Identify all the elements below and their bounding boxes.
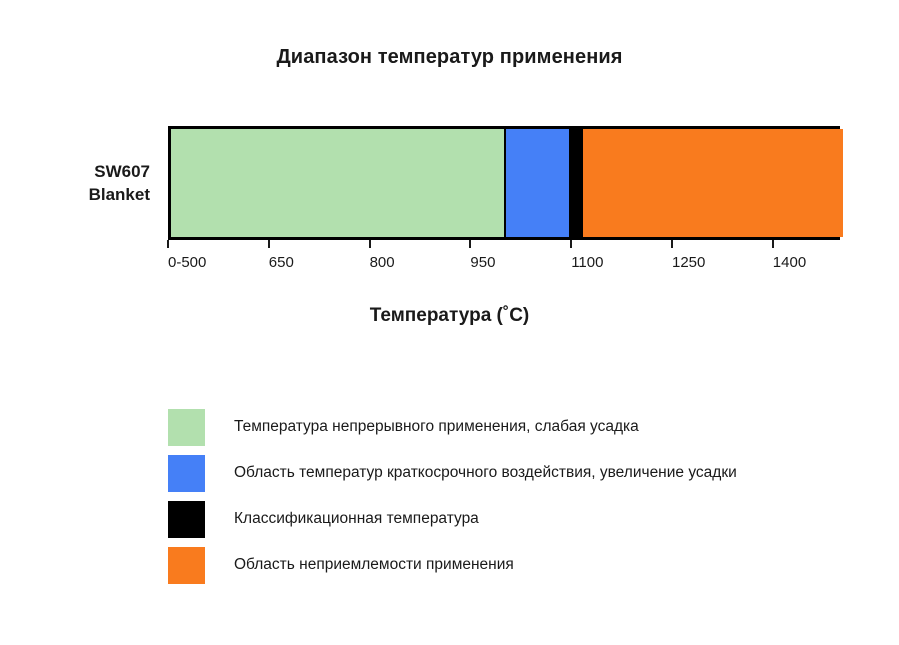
color-swatch-green: [168, 409, 205, 446]
legend-label: Область неприемлемости применения: [234, 556, 514, 574]
tick-label: 1100: [571, 254, 603, 271]
tick-label: 0-500: [168, 254, 206, 271]
bar-segment: [504, 129, 569, 237]
chart-legend: Температура непрерывного применения, сла…: [168, 409, 868, 593]
tick-label: 1400: [773, 254, 806, 271]
category-axis-label: SW607 Blanket: [0, 160, 150, 206]
bar-segment: [569, 129, 581, 237]
temperature-range-chart: Диапазон температур применения SW607 Bla…: [0, 0, 899, 645]
legend-label: Температура непрерывного применения, сла…: [234, 418, 639, 436]
tick-mark: [671, 240, 673, 248]
category-label-line-2: Blanket: [0, 183, 150, 206]
legend-item: Область температур краткосрочного воздей…: [168, 455, 868, 501]
plot-area: [168, 126, 840, 240]
bar-segment: [581, 129, 843, 237]
tick-mark: [469, 240, 471, 248]
color-swatch-black: [168, 501, 205, 538]
bar-segment: [171, 129, 504, 237]
tick-label: 650: [269, 254, 294, 271]
color-swatch-orange: [168, 547, 205, 584]
chart-title: Диапазон температур применения: [0, 46, 899, 69]
legend-label: Классификационная температура: [234, 510, 479, 528]
category-label-line-1: SW607: [0, 160, 150, 183]
legend-label: Область температур краткосрочного воздей…: [234, 464, 737, 482]
tick-mark: [570, 240, 572, 248]
tick-mark: [268, 240, 270, 248]
tick-mark: [369, 240, 371, 248]
tick-mark: [167, 240, 169, 248]
tick-label: 1250: [672, 254, 705, 271]
x-axis-title: Температура (˚С): [0, 305, 899, 327]
tick-mark: [772, 240, 774, 248]
color-swatch-blue: [168, 455, 205, 492]
stacked-bar: [171, 129, 837, 237]
tick-label: 950: [470, 254, 495, 271]
legend-item: Классификационная температура: [168, 501, 868, 547]
legend-item: Температура непрерывного применения, сла…: [168, 409, 868, 455]
legend-item: Область неприемлемости применения: [168, 547, 868, 593]
tick-label: 800: [370, 254, 395, 271]
